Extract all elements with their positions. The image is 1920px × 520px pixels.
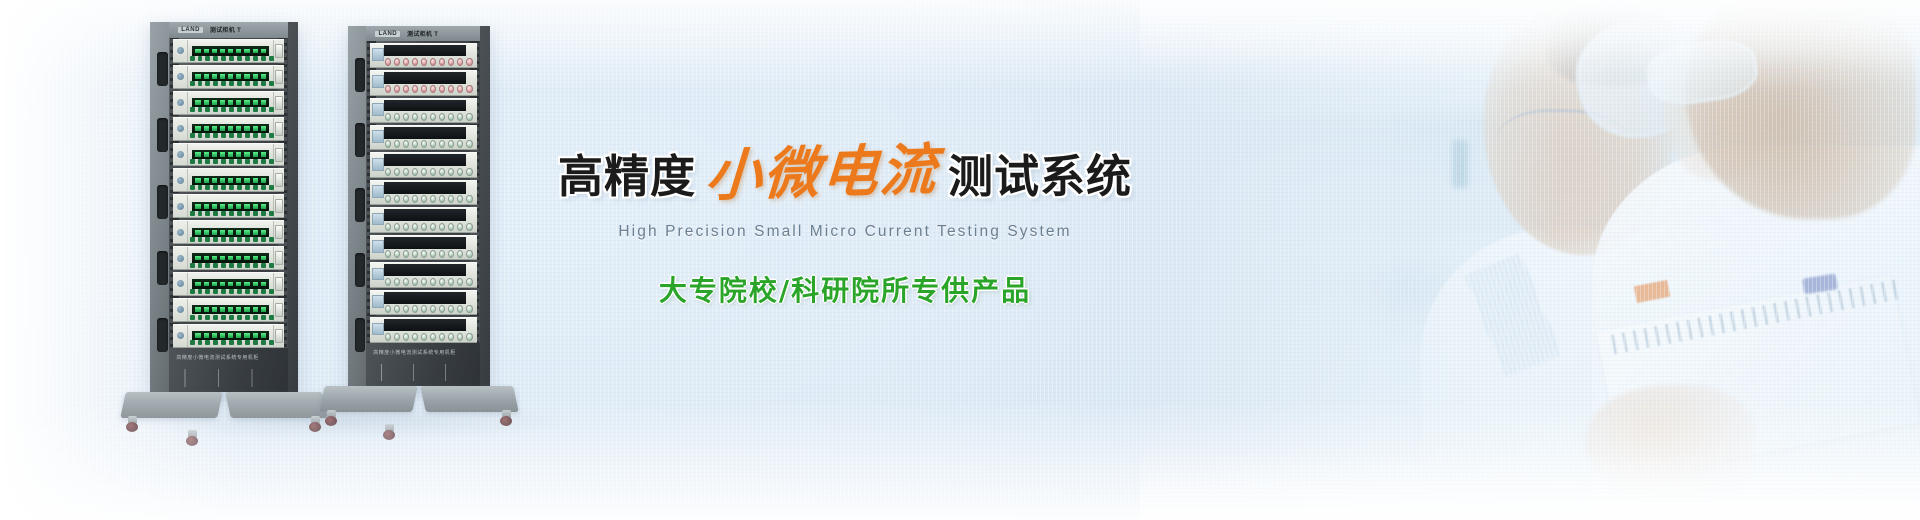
unit-button [261,133,266,138]
knob-icon [177,73,184,80]
unit-button [190,81,195,86]
led-segment [212,126,217,131]
terminal-connector [412,223,418,231]
unit-left-panel [173,195,188,217]
led-display [192,228,269,237]
led-segment [220,282,225,287]
unit-button [190,263,195,268]
unit-left-panel [173,325,188,347]
led-segment [204,100,209,105]
terminal-connector [421,85,427,93]
led-segment [253,49,258,54]
unit-button [198,263,203,268]
unit-button [245,81,250,86]
led-segment [244,230,249,235]
unit-button [245,56,250,61]
terminal-connector [403,195,409,203]
terminal-connector [394,223,400,231]
unit-button [261,107,266,112]
unit-terminal-row [370,221,477,232]
terminal-connector [394,140,400,148]
unit-button [213,211,218,216]
unit-button [253,340,258,345]
rack-right-post [288,22,298,392]
terminal-connector [457,168,463,176]
unit-button [237,56,242,61]
unit-button [269,185,274,190]
unit-button [261,159,266,164]
unit-button [253,56,258,61]
unit-left-panel [173,247,188,269]
led-display [192,305,269,314]
led-segment [261,126,266,131]
unit-button [198,289,203,294]
unit-left-panel [173,92,188,114]
banner-tagline: 大专院校/科研院所专供产品 [525,269,1165,309]
unit-right-panel [273,299,284,321]
terminal-connector [385,250,391,258]
power-switch-icon [275,96,283,110]
unit-dark-panel [384,100,466,112]
terminal-connector [385,85,391,93]
unit-button [205,289,210,294]
terminal-connector [448,250,454,258]
unit-left-panel [173,144,188,166]
unit-button [237,185,242,190]
led-segment [236,282,241,287]
unit-button [237,289,242,294]
unit-button-row [190,185,274,190]
terminal-connector [448,195,454,203]
terminal-connector [430,58,436,66]
terminal-connector [385,223,391,231]
unit-right-panel [273,66,284,88]
knob-icon [177,177,184,184]
unit-button [205,211,210,216]
unit-button [269,289,274,294]
terminal-connector [421,333,427,341]
unit-button [229,263,234,268]
led-segment [244,152,249,157]
unit-right-panel [273,144,284,166]
unit-button [245,263,250,268]
led-display [192,46,269,55]
unit-button [213,289,218,294]
led-segment [261,100,266,105]
unit-button-row [190,159,274,164]
unit-button [221,185,226,190]
rack-header: LAND 测试柜机 T [169,22,287,38]
terminal-connector [403,305,409,313]
unit-badge [372,295,384,308]
led-display [192,253,269,262]
unit-button [205,56,210,61]
terminal-connector [394,113,400,121]
terminal-connector [430,140,436,148]
terminal-connector [457,85,463,93]
unit-button [253,81,258,86]
unit-button [237,107,242,112]
led-segment [204,204,209,209]
power-switch-icon [275,303,283,317]
knob-icon [177,229,184,236]
led-segment [261,307,266,312]
terminal-connector [412,278,418,286]
terminal-connector [448,168,454,176]
unit-button [205,81,210,86]
unit-button [229,159,234,164]
power-switch-icon [275,225,283,239]
knob-icon [177,203,184,210]
unit-button [221,56,226,61]
terminal-connector [457,58,463,66]
unit-button-row [190,289,274,294]
led-segment [195,126,200,131]
unit-badge [372,48,384,61]
led-segment [195,282,200,287]
unit-button [213,340,218,345]
terminal-connector [412,333,418,341]
rack-instrument-unit [370,70,477,95]
unit-dark-panel [384,154,466,166]
led-segment [236,49,241,54]
unit-button [213,56,218,61]
led-segment [261,49,266,54]
led-segment [244,282,249,287]
rack-unit-stack [370,43,477,343]
led-segment [261,178,266,183]
terminal-connector [421,58,427,66]
terminal-connector [439,168,445,176]
unit-button [261,81,266,86]
rack-header: LAND 测试柜机 T [366,26,480,41]
led-segment [261,333,266,338]
knob-icon [177,99,184,106]
unit-button [269,237,274,242]
led-segment [212,230,217,235]
led-segment [253,126,258,131]
led-segment [212,74,217,79]
rack-instrument-unit [173,324,284,348]
led-segment [212,204,217,209]
led-segment [236,333,241,338]
unit-left-panel [173,221,188,243]
unit-button [205,340,210,345]
led-segment [253,230,258,235]
unit-terminal-row [370,111,477,122]
led-segment [228,100,233,105]
led-display [192,150,269,159]
unit-button [221,81,226,86]
unit-left-panel [173,299,188,321]
unit-dark-panel [384,182,466,194]
terminal-connector [439,140,445,148]
terminal-connector [394,333,400,341]
led-segment [220,204,225,209]
terminal-connector [457,113,463,121]
rack-left-post [150,22,169,392]
rack-right-post [480,26,490,386]
terminal-connector [385,305,391,313]
led-segment [195,230,200,235]
led-segment [236,204,241,209]
unit-button-row [190,211,274,216]
terminal-connector [394,305,400,313]
terminal-connector [439,113,445,121]
unit-dark-panel [384,292,466,304]
unit-right-panel [273,169,284,191]
led-display [192,331,269,340]
led-segment [204,333,209,338]
unit-terminal-row [370,276,477,287]
led-segment [204,126,209,131]
led-display [192,176,269,185]
unit-button-row [190,237,274,242]
unit-button [237,133,242,138]
bottom-highlight [0,400,1920,520]
unit-button [190,56,195,61]
knob-icon [177,332,184,339]
rack-instrument-unit [370,235,477,260]
unit-button [269,56,274,61]
power-switch-icon [275,70,283,84]
led-segment [228,307,233,312]
banner-headline: 高精度 小微电流 测试系统 [525,128,1165,209]
unit-dark-panel [384,237,466,249]
terminal-connector [421,195,427,203]
led-segment [236,230,241,235]
unit-button [261,211,266,216]
led-segment [195,333,200,338]
led-display [192,124,269,133]
unit-button [269,133,274,138]
led-segment [236,74,241,79]
unit-button [221,133,226,138]
unit-button [190,159,195,164]
terminal-connector [430,223,436,231]
led-segment [244,100,249,105]
unit-button [198,237,203,242]
terminal-connector [466,223,472,231]
led-segment [220,256,225,261]
unit-dark-panel [384,264,466,276]
terminal-connector [394,250,400,258]
rack-instrument-unit [370,290,477,315]
led-segment [236,100,241,105]
led-segment [236,256,241,261]
led-segment [228,256,233,261]
led-segment [261,256,266,261]
knob-icon [177,125,184,132]
unit-button [213,133,218,138]
terminal-connector [385,168,391,176]
unit-button [253,133,258,138]
unit-button [190,340,195,345]
led-segment [195,256,200,261]
unit-button [237,81,242,86]
led-segment [261,74,266,79]
led-segment [244,204,249,209]
led-segment [228,152,233,157]
terminal-connector [412,113,418,121]
terminal-connector [421,113,427,121]
unit-terminal-row [370,84,477,95]
rack-instrument-unit [370,98,477,123]
instrument-rack-green-led: LAND 测试柜机 T 高精度小微电流测试系统专用机柜 [150,22,298,392]
unit-left-panel [173,118,188,140]
unit-button [198,133,203,138]
instrument-rack-terminal: LAND 测试柜机 T 高精度小微电流测试系统专用机柜 [348,26,490,386]
terminal-connector [403,278,409,286]
power-switch-icon [275,148,283,162]
unit-badge [372,213,384,226]
unit-button [190,185,195,190]
rack-brand-logo: LAND [375,31,400,37]
unit-badge [372,268,384,281]
unit-button [221,211,226,216]
rack-instrument-unit [173,117,284,141]
unit-terminal-row [370,304,477,315]
rack-base-plate-label: 高精度小微电流测试系统专用机柜 [373,349,456,356]
terminal-connector [448,58,454,66]
unit-button [213,107,218,112]
terminal-connector [403,140,409,148]
banner-subtitle-english: High Precision Small Micro Current Testi… [525,223,1165,241]
unit-button-row [190,107,274,112]
rack-cable-runs [176,369,280,387]
unit-button [253,289,258,294]
unit-button-row [190,81,274,86]
power-switch-icon [275,251,283,265]
unit-dark-panel [384,127,466,139]
power-switch-icon [275,199,283,213]
unit-terminal-row [370,139,477,150]
unit-button [198,211,203,216]
rack-instrument-unit [370,43,477,68]
led-segment [244,74,249,79]
unit-button [229,56,234,61]
terminal-connector [421,168,427,176]
led-segment [253,333,258,338]
unit-button [213,81,218,86]
unit-button [261,263,266,268]
rack-cable-runs [373,364,473,381]
unit-badge [372,323,384,336]
led-segment [204,282,209,287]
terminal-connector [394,195,400,203]
unit-button [261,185,266,190]
led-segment [244,126,249,131]
terminal-connector [466,85,472,93]
unit-button-row [190,133,274,138]
unit-button [237,315,242,320]
led-display [192,202,269,211]
rack-unit-stack [173,39,284,348]
unit-button [269,340,274,345]
led-segment [261,152,266,157]
terminal-connector [412,58,418,66]
terminal-connector [457,333,463,341]
unit-button-row [190,263,274,268]
led-segment [212,307,217,312]
led-segment [212,256,217,261]
unit-button [229,315,234,320]
terminal-connector [466,305,472,313]
unit-button [253,263,258,268]
terminal-connector [412,305,418,313]
terminal-connector [457,140,463,148]
terminal-connector [457,223,463,231]
headline-highlight: 小微电流 [695,125,948,213]
led-segment [195,204,200,209]
knob-icon [177,255,184,262]
led-segment [236,307,241,312]
unit-button [253,159,258,164]
rack-instrument-unit [173,298,284,322]
unit-button [213,263,218,268]
unit-button [205,133,210,138]
led-segment [195,49,200,54]
unit-terminal-row [370,331,477,342]
rack-instrument-unit [370,207,477,232]
knob-icon [177,280,184,287]
unit-button [205,107,210,112]
terminal-connector [412,140,418,148]
led-segment [253,152,258,157]
terminal-connector [457,305,463,313]
unit-terminal-row [370,166,477,177]
led-segment [220,230,225,235]
led-segment [195,307,200,312]
led-segment [228,230,233,235]
terminal-connector [430,195,436,203]
unit-button [261,340,266,345]
unit-button [237,263,242,268]
led-segment [212,178,217,183]
led-segment [261,204,266,209]
unit-button [205,263,210,268]
unit-left-panel [173,40,188,62]
terminal-connector [430,333,436,341]
terminal-connector [403,113,409,121]
terminal-connector [430,85,436,93]
terminal-connector [448,278,454,286]
terminal-connector [457,278,463,286]
led-segment [244,178,249,183]
banner-text-block: 高精度 小微电流 测试系统 High Precision Small Micro… [525,128,1165,309]
terminal-connector [403,85,409,93]
terminal-connector [448,223,454,231]
unit-dark-panel [384,45,466,57]
terminal-connector [439,250,445,258]
terminal-connector [421,250,427,258]
led-segment [195,74,200,79]
led-segment [253,256,258,261]
led-segment [228,333,233,338]
terminal-connector [466,250,472,258]
terminal-connector [403,333,409,341]
unit-button [190,289,195,294]
led-segment [244,49,249,54]
rack-instrument-unit [173,194,284,218]
unit-button [229,185,234,190]
rack-instrument-unit [370,125,477,150]
terminal-connector [412,85,418,93]
rack-instrument-unit [173,246,284,270]
unit-button [229,107,234,112]
unit-button [245,107,250,112]
led-segment [204,256,209,261]
